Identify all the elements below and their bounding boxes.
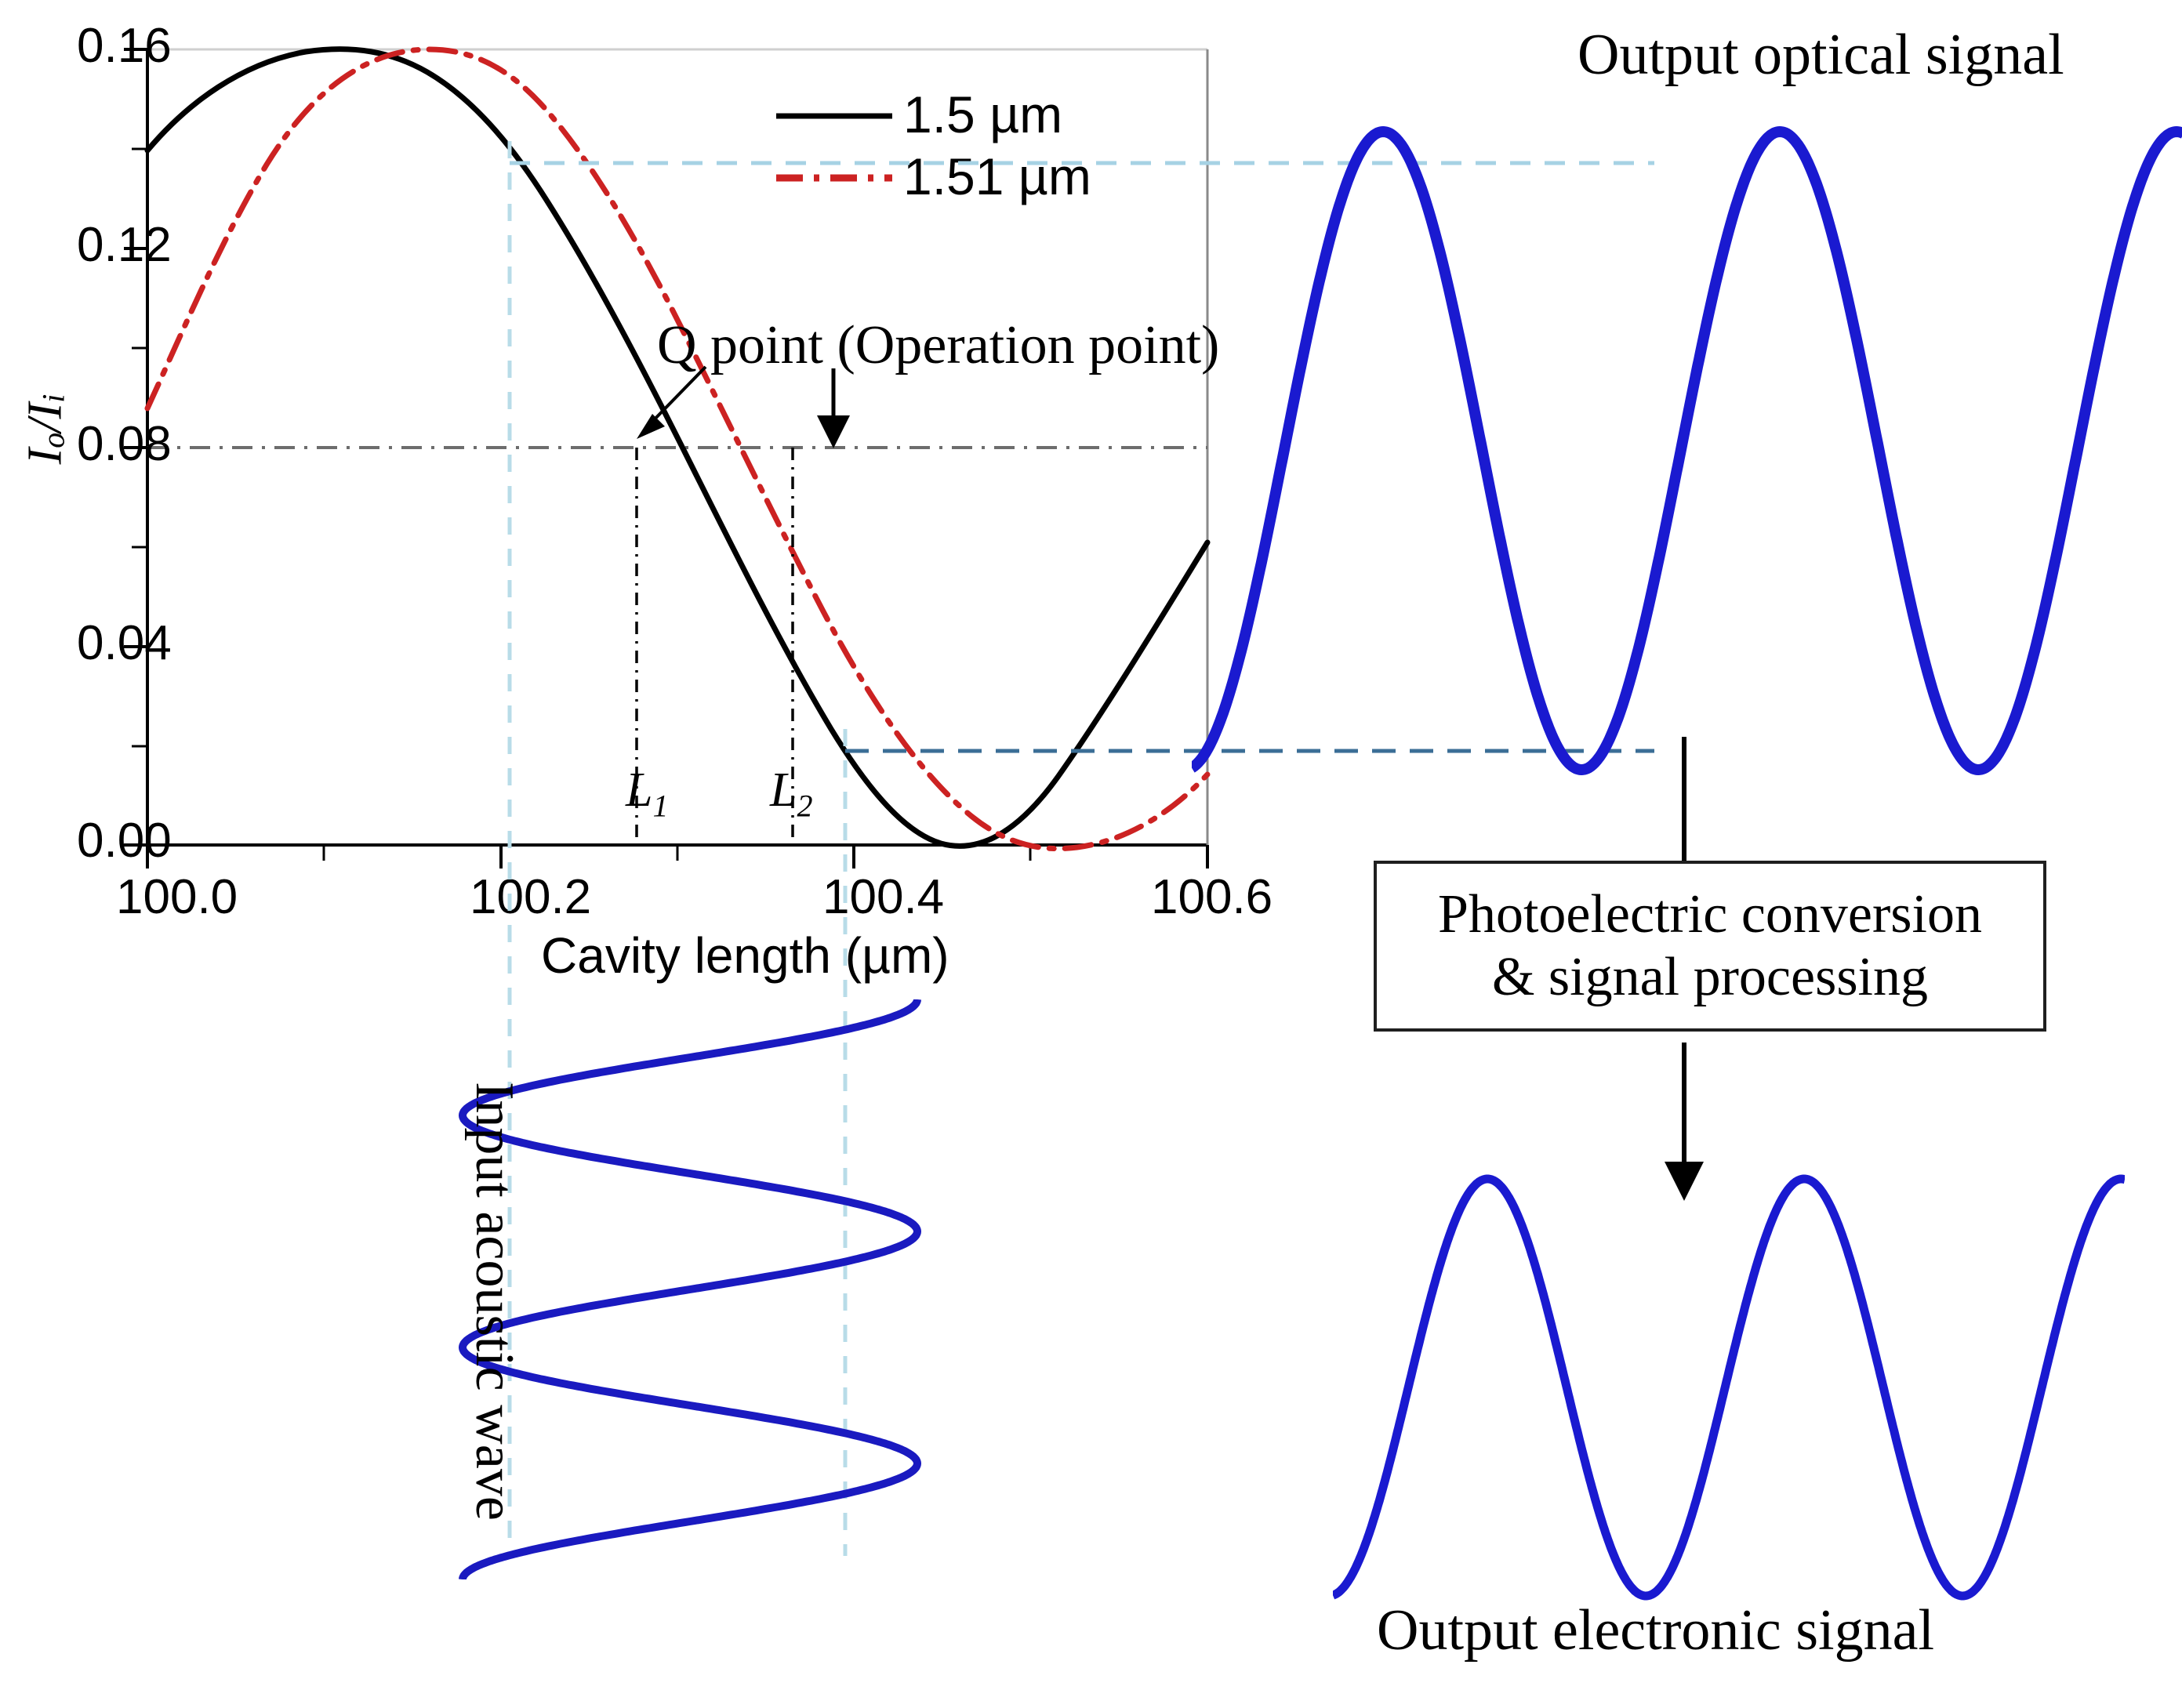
acoustic-sine-polyline <box>463 999 917 1579</box>
figure-root: 0.16 0.12 0.08 0.04 0.00 100.0 100.2 100… <box>0 0 2182 1708</box>
x-tick-label-0: 100.0 <box>116 872 238 923</box>
y-axis-title: Io/Ii <box>18 335 74 524</box>
x-axis-minor-ticks <box>324 845 1030 861</box>
y-axis-title-sub-i: i <box>36 394 71 403</box>
optical-sine-polyline <box>1192 132 2182 770</box>
input-acoustic-wave-label-wrap: Input acoustic wave <box>463 1043 525 1560</box>
x-tick-label-3: 100.6 <box>1151 872 1273 923</box>
y-tick-label-4: 0.00 <box>77 815 172 866</box>
output-electronic-signal-wave <box>1333 1168 2125 1607</box>
q-point-annotation: Q point (Operation point) <box>657 317 1219 375</box>
y-axis-title-I-i: I <box>19 403 72 419</box>
y-tick-label-3: 0.04 <box>77 618 172 669</box>
processing-box-line-1: Photoelectric conversion <box>1438 883 1982 946</box>
legend-label-1p5: 1.5 µm <box>903 88 1062 142</box>
output-optical-signal-wave <box>1192 118 2182 784</box>
output-optical-signal-label: Output optical signal <box>1578 25 2064 86</box>
y-axis-title-I-o: I <box>19 448 72 465</box>
L1-letter: L <box>626 763 652 817</box>
y-axis-title-sub-o: o <box>36 433 71 448</box>
x-tick-label-2: 100.4 <box>822 872 944 923</box>
photoelectric-conversion-box: Photoelectric conversion & signal proces… <box>1374 861 2046 1032</box>
q-point-arrow-right <box>817 368 850 448</box>
L2-label: L2 <box>770 765 812 822</box>
x-tick-label-1: 100.2 <box>470 872 591 923</box>
electronic-sine-polyline <box>1333 1179 2125 1596</box>
y-tick-label-0: 0.16 <box>77 20 172 71</box>
processing-box-line-2: & signal processing <box>1492 946 1928 1009</box>
y-axis-title-slash: / <box>19 419 72 432</box>
y-tick-label-1: 0.12 <box>77 219 172 270</box>
legend-label-1p51: 1.51 µm <box>903 150 1091 204</box>
L2-subscript: 2 <box>797 788 812 823</box>
L1-subscript: 1 <box>652 788 668 823</box>
input-acoustic-wave-label: Input acoustic wave <box>463 1043 525 1560</box>
y-tick-label-2: 0.08 <box>77 419 172 470</box>
L2-letter: L <box>770 763 797 817</box>
x-axis-title: Cavity length (µm) <box>541 930 949 982</box>
output-electronic-signal-label: Output electronic signal <box>1377 1601 1934 1662</box>
L1-label: L1 <box>626 765 668 822</box>
